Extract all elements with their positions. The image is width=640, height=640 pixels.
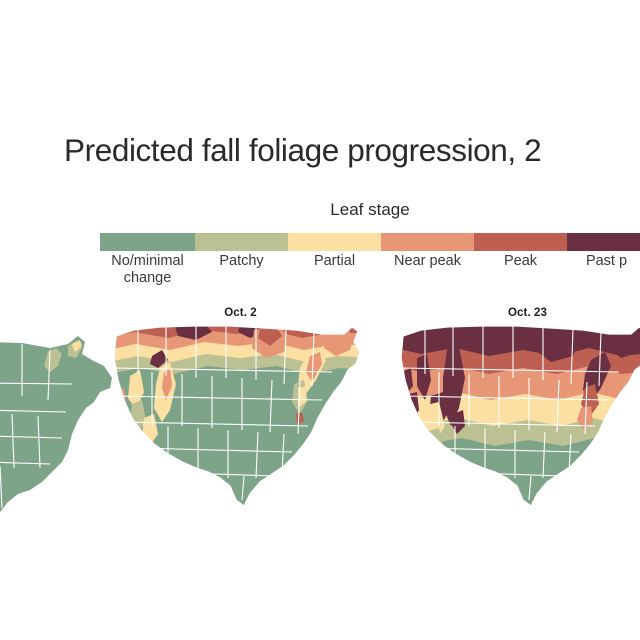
legend-color-bar [100, 233, 640, 251]
legend-label-4: Peak [474, 253, 567, 270]
map-date-label-2: Oct. 2 [108, 306, 373, 320]
us-map-oct-2[interactable] [108, 322, 373, 527]
map-regions-early [0, 336, 112, 512]
legend-label-2: Partial [288, 253, 381, 270]
map-row: Oct. 2 [0, 306, 640, 536]
legend-swatch-5[interactable] [567, 233, 640, 251]
map-panel-oct-2[interactable]: Oct. 2 [108, 306, 373, 536]
legend-label-row: No/minimal changePatchyPartialNear peakP… [100, 253, 640, 293]
page-title: Predicted fall foliage progression, 2 [64, 128, 541, 172]
legend-swatch-2[interactable] [288, 233, 381, 251]
legend-swatch-1[interactable] [195, 233, 288, 251]
legend-swatch-3[interactable] [381, 233, 474, 251]
stage-past-peak-oct23 [395, 322, 640, 356]
legend: Leaf stage No/minimal changePatchyPartia… [0, 198, 640, 294]
map-panel-oct-23[interactable]: Oct. 23 [395, 306, 640, 536]
us-map-oct-23[interactable] [395, 322, 640, 527]
legend-label-1: Patchy [195, 253, 288, 270]
legend-swatch-0[interactable] [100, 233, 195, 251]
legend-title: Leaf stage [50, 198, 640, 222]
page-title-container: Predicted fall foliage progression, 2 [0, 128, 640, 174]
map-date-label-3: Oct. 23 [395, 306, 640, 320]
legend-label-3: Near peak [381, 253, 474, 270]
legend-swatch-4[interactable] [474, 233, 567, 251]
legend-label-0: No/minimal change [100, 253, 195, 287]
legend-label-5: Past p [567, 253, 640, 270]
